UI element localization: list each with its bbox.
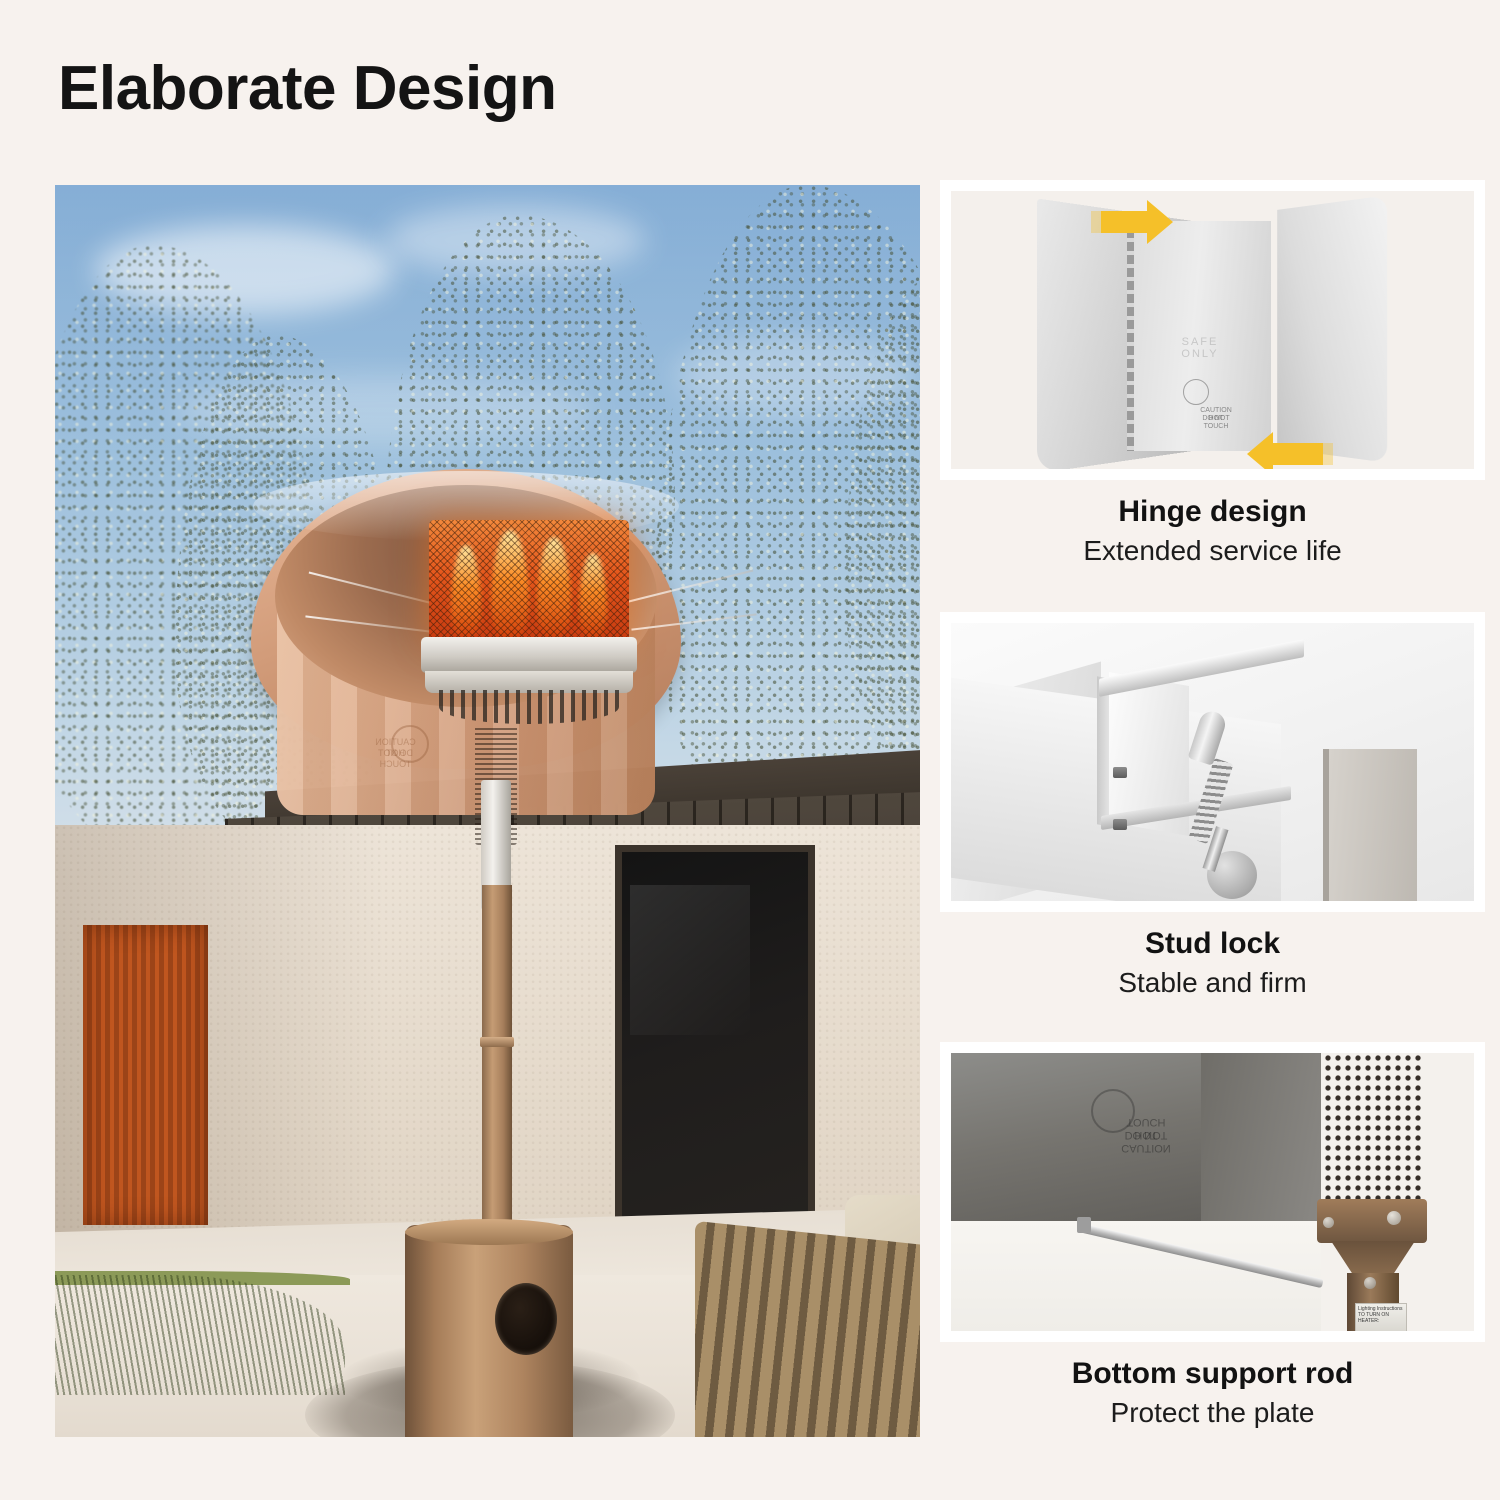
hinge-reflector-photo: SAFE ONLY CAUTION HOT DO NOT TOUCH [951,191,1474,469]
screw-icon [1323,1217,1334,1228]
bolt [1113,819,1127,830]
support-rod-bracket [1077,1217,1091,1233]
hinge-joint [1127,229,1134,451]
burner-mesh-tube [1323,1053,1421,1201]
feature-stud-lock: Stud lock Stable and firm [940,612,1485,912]
arrow-right-icon [1091,211,1151,233]
stud-lock-bracket-photo [951,623,1474,901]
page-title: Elaborate Design [58,58,556,120]
feature-subtitle: Stable and firm [940,966,1485,1000]
screw-icon [1364,1277,1376,1289]
hero-product-photo: SAFE ONLY CAUTION HOT DO NOT TOUCH [55,185,920,1437]
lighting-instruction-label: Lighting Instructions TO TURN ON HEATER: [1355,1303,1407,1331]
product-feature-page: Elaborate Design [0,0,1500,1500]
feature-subtitle: Extended service life [940,534,1485,568]
bolt [1113,767,1127,778]
caption-stud-lock: Stud lock Stable and firm [940,927,1485,999]
hero-overlay [55,185,920,1437]
caption-bottom-support-rod: Bottom support rod Protect the plate [940,1357,1485,1429]
screw-icon [1387,1211,1401,1225]
caution-line-2: DO NOT TOUCH [1116,1115,1176,1141]
emboss-brand-text: SAFE ONLY [1165,336,1235,360]
side-panel [1329,749,1417,901]
feature-subtitle: Protect the plate [940,1396,1485,1430]
caution-line-2: DO NOT TOUCH [1196,415,1236,431]
arrow-right-head-icon [1147,200,1173,244]
feature-hinge-design: SAFE ONLY CAUTION HOT DO NOT TOUCH Hinge… [940,180,1485,480]
thumbnail-stud-lock[interactable] [940,612,1485,912]
thumbnail-bottom-support-rod[interactable]: CAUTION HOT DO NOT TOUCH Lighting Instru… [940,1042,1485,1342]
reflector-plate-side [1201,1053,1321,1225]
arrow-left-head-icon [1247,432,1273,469]
reflector-panel-right [1277,195,1387,463]
feature-title: Stud lock [940,927,1485,962]
thumbnail-hinge-design[interactable]: SAFE ONLY CAUTION HOT DO NOT TOUCH [940,180,1485,480]
arrow-left-icon [1271,443,1333,465]
feature-title: Hinge design [940,495,1485,530]
emboss-caution-text: CAUTION HOT DO NOT TOUCH [1056,1141,1176,1154]
feature-title: Bottom support rod [940,1357,1485,1392]
bottom-support-rod-photo: CAUTION HOT DO NOT TOUCH Lighting Instru… [951,1053,1474,1331]
caption-hinge-design: Hinge design Extended service life [940,495,1485,567]
emboss-caution-text: CAUTION HOT DO NOT TOUCH [1156,407,1236,415]
emboss-logo-icon [1183,379,1209,405]
feature-bottom-support-rod: CAUTION HOT DO NOT TOUCH Lighting Instru… [940,1042,1485,1342]
